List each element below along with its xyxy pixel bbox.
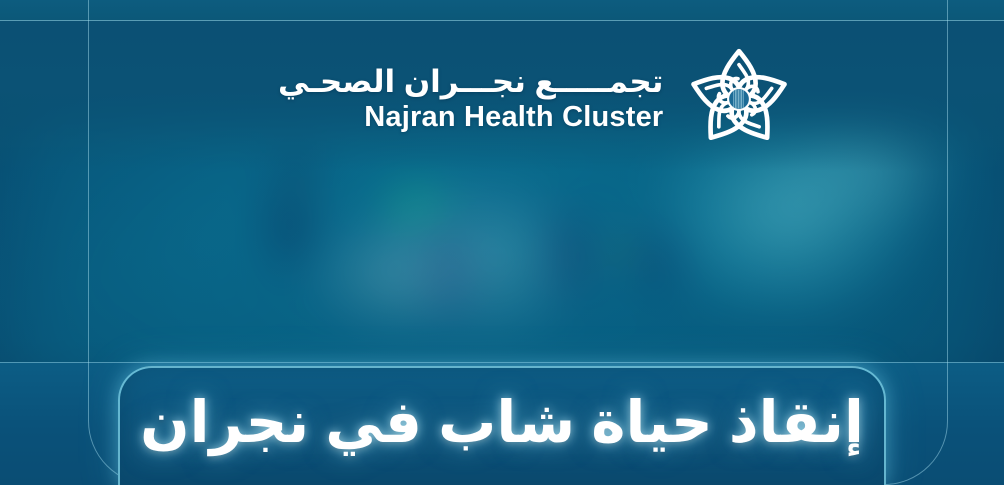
organization-name-arabic: تجمـــــع نجـــران الصحـي <box>278 66 663 97</box>
poster-canvas: تجمـــــع نجـــران الصحـي Najran Health … <box>0 0 1004 485</box>
najran-health-cluster-star-emblem <box>687 47 791 151</box>
brand-logo-lockup: تجمـــــع نجـــران الصحـي Najran Health … <box>278 47 791 151</box>
brand-wordmark: تجمـــــع نجـــران الصحـي Najran Health … <box>278 66 663 132</box>
bottom-band-divider-line <box>0 362 1004 363</box>
headline-banner: إنقاذ حياة شاب في نجران <box>118 366 886 485</box>
top-brand-band <box>0 0 1004 21</box>
headline-text-arabic: إنقاذ حياة شاب في نجران <box>140 393 864 460</box>
organization-name-english: Najran Health Cluster <box>278 103 663 132</box>
